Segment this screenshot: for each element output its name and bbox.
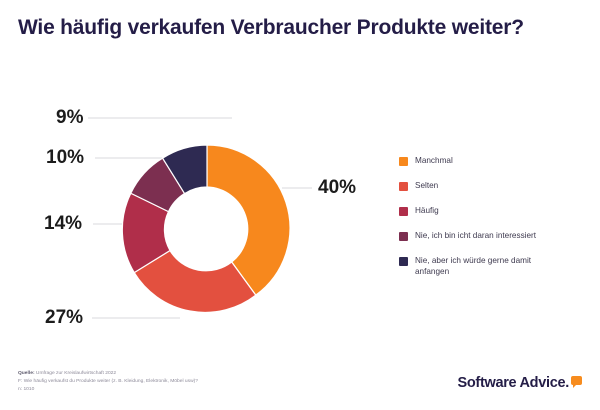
legend-item-label: Nie, aber ich würde gerne damit anfangen: [415, 255, 533, 279]
legend-swatch-icon: [399, 257, 408, 266]
footer-source-prefix: Quelle:: [18, 371, 35, 376]
footer-source-line: Quelle: Umfrage zur Kreislaufwirtschaft …: [18, 370, 418, 378]
value-label-10: 10%: [46, 147, 84, 169]
legend-item-label: Selten: [415, 180, 438, 192]
speech-bubble-icon: [571, 376, 582, 385]
page-title: Wie häufig verkaufen Verbraucher Produkt…: [18, 14, 563, 41]
chart-page: Wie häufig verkaufen Verbraucher Produkt…: [0, 0, 600, 410]
chart-legend: Manchmal Selten Häufig Nie, ich bin icht…: [399, 155, 589, 291]
legend-swatch-icon: [399, 157, 408, 166]
value-label-14: 14%: [44, 213, 82, 235]
footer-source: Quelle: Umfrage zur Kreislaufwirtschaft …: [18, 370, 418, 394]
legend-swatch-icon: [399, 182, 408, 191]
legend-item-selten[interactable]: Selten: [399, 180, 589, 192]
legend-item-label: Nie, ich bin icht daran interessiert: [415, 230, 536, 242]
donut-chart: 9% 10% 14% 27% 40%: [0, 96, 390, 358]
legend-item-label: Manchmal: [415, 155, 453, 167]
donut-segments: [122, 145, 290, 312]
footer-sample-line: n: 1010: [18, 386, 418, 394]
footer-question-line: F: Wie häufig verkaufst du Produkte weit…: [18, 378, 418, 386]
legend-item-haeufig[interactable]: Häufig: [399, 205, 589, 217]
value-label-27: 27%: [45, 307, 83, 329]
footer-source-text: Umfrage zur Kreislaufwirtschaft 2022: [35, 371, 117, 376]
value-label-40: 40%: [318, 177, 356, 199]
legend-item-nie-nicht-interessiert[interactable]: Nie, ich bin icht daran interessiert: [399, 230, 589, 242]
value-label-9: 9%: [56, 107, 83, 129]
brand-logo: Software Advice.: [457, 376, 582, 391]
legend-swatch-icon: [399, 232, 408, 241]
legend-item-manchmal[interactable]: Manchmal: [399, 155, 589, 167]
legend-swatch-icon: [399, 207, 408, 216]
legend-item-nie-wuerde-gerne[interactable]: Nie, aber ich würde gerne damit anfangen: [399, 255, 589, 279]
legend-item-label: Häufig: [415, 205, 439, 217]
brand-name: Software Advice.: [457, 376, 569, 391]
